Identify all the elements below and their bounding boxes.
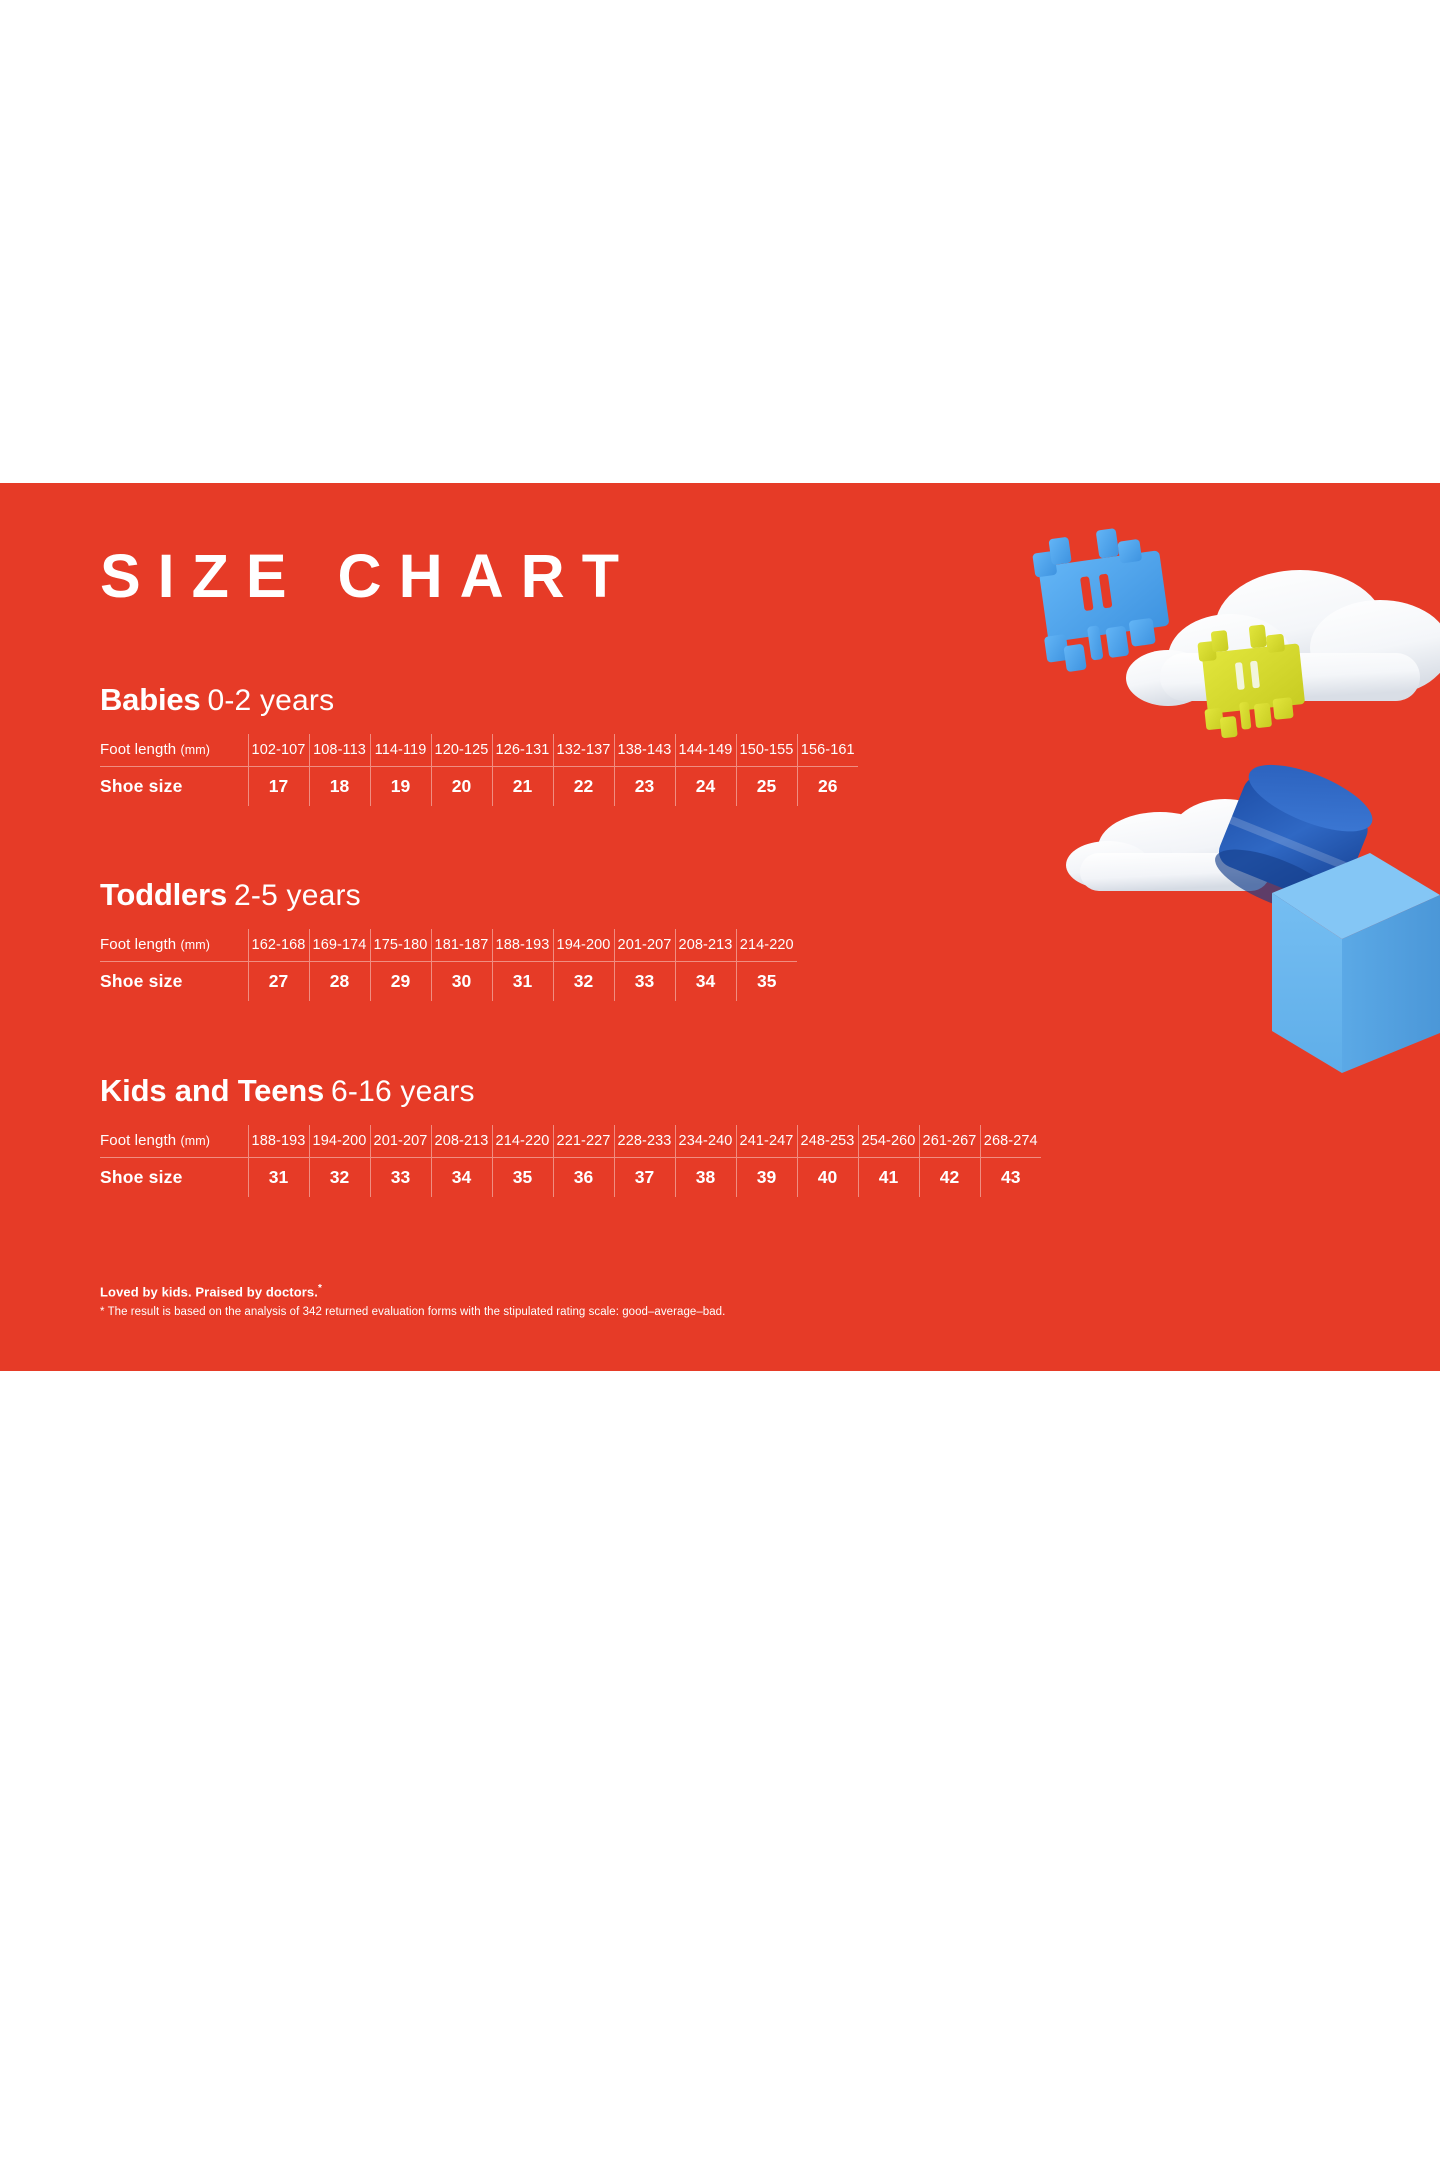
- table-cell-foot-length: 150-155: [736, 734, 797, 766]
- row-label-shoe-size: Shoe size: [100, 1157, 248, 1197]
- table-cell-foot-length: 102-107: [248, 734, 309, 766]
- table-cell-foot-length: 201-207: [614, 929, 675, 961]
- footer-claim-text: Loved by kids. Praised by doctors.: [100, 1284, 318, 1299]
- table-cell-foot-length: 254-260: [858, 1125, 919, 1157]
- table-cell-shoe-size: 21: [492, 766, 553, 806]
- section-age-label: 6-16 years: [331, 1075, 475, 1108]
- block-body: [1272, 853, 1440, 1073]
- table-cell-shoe-size: 25: [736, 766, 797, 806]
- row-label-foot-length-text: Foot length: [100, 1132, 176, 1149]
- table-row-foot-length: Foot length (mm) 188-193 194-200 201-207…: [100, 1125, 1041, 1157]
- table-cell-shoe-size: 35: [736, 961, 797, 1001]
- table-row-foot-length: Foot length (mm) 162-168 169-174 175-180…: [100, 929, 797, 961]
- table-cell-shoe-size: 37: [614, 1157, 675, 1197]
- table-cell-shoe-size: 31: [492, 961, 553, 1001]
- table-cell-foot-length: 194-200: [553, 929, 614, 961]
- section-heading-toddlers: Toddlers2-5 years: [100, 879, 797, 911]
- section-heading-kids-and-teens: Kids and Teens6-16 years: [100, 1075, 1041, 1107]
- rocket-cap: [1207, 751, 1380, 927]
- section-group-label: Toddlers: [100, 877, 227, 912]
- table-cell-shoe-size: 17: [248, 766, 309, 806]
- table-cell-shoe-size: 20: [431, 766, 492, 806]
- page-title: SIZE CHART: [100, 546, 636, 607]
- size-table-kids-and-teens: Foot length (mm) 188-193 194-200 201-207…: [100, 1125, 1041, 1197]
- row-label-foot-length: Foot length (mm): [100, 929, 248, 961]
- row-label-unit: (mm): [180, 938, 210, 952]
- cloud-shape: [1066, 799, 1281, 891]
- table-cell-foot-length: 221-227: [553, 1125, 614, 1157]
- table-cell-foot-length: 201-207: [370, 1125, 431, 1157]
- table-cell-shoe-size: 43: [980, 1157, 1041, 1197]
- row-label-shoe-size: Shoe size: [100, 961, 248, 1001]
- footer-claim-marker: *: [318, 1283, 322, 1294]
- table-cell-foot-length: 144-149: [675, 734, 736, 766]
- table-cell-foot-length: 208-213: [675, 929, 736, 961]
- table-cell-shoe-size: 41: [858, 1157, 919, 1197]
- table-row-shoe-size: Shoe size 17 18 19 20 21 22 23 24 25 26: [100, 766, 858, 806]
- table-cell-foot-length: 156-161: [797, 734, 858, 766]
- section-toddlers: Toddlers2-5 years Foot length (mm) 162-1…: [100, 879, 797, 1001]
- table-cell-foot-length: 261-267: [919, 1125, 980, 1157]
- table-cell-shoe-size: 33: [614, 961, 675, 1001]
- table-cell-foot-length: 194-200: [309, 1125, 370, 1157]
- table-cell-shoe-size: 39: [736, 1157, 797, 1197]
- table-cell-foot-length: 132-137: [553, 734, 614, 766]
- table-cell-foot-length: 214-220: [736, 929, 797, 961]
- page-root: SIZE CHART: [0, 0, 1440, 2160]
- blue-pixel-creature: [1030, 522, 1174, 674]
- row-label-unit: (mm): [180, 1134, 210, 1148]
- table-cell-shoe-size: 28: [309, 961, 370, 1001]
- section-babies: Babies0-2 years Foot length (mm) 102-107…: [100, 684, 858, 806]
- section-age-label: 0-2 years: [207, 684, 334, 717]
- table-cell-shoe-size: 26: [797, 766, 858, 806]
- table-cell-foot-length: 169-174: [309, 929, 370, 961]
- table-cell-foot-length: 234-240: [675, 1125, 736, 1157]
- table-cell-shoe-size: 35: [492, 1157, 553, 1197]
- footer: Loved by kids. Praised by doctors.* * Th…: [100, 1283, 725, 1318]
- table-cell-foot-length: 126-131: [492, 734, 553, 766]
- section-kids-and-teens: Kids and Teens6-16 years Foot length (mm…: [100, 1075, 1041, 1197]
- table-cell-shoe-size: 24: [675, 766, 736, 806]
- table-cell-shoe-size: 31: [248, 1157, 309, 1197]
- table-cell-shoe-size: 27: [248, 961, 309, 1001]
- table-cell-shoe-size: 22: [553, 766, 614, 806]
- table-cell-shoe-size: 29: [370, 961, 431, 1001]
- table-cell-shoe-size: 23: [614, 766, 675, 806]
- table-cell-shoe-size: 30: [431, 961, 492, 1001]
- table-cell-foot-length: 214-220: [492, 1125, 553, 1157]
- table-cell-foot-length: 188-193: [492, 929, 553, 961]
- table-cell-foot-length: 120-125: [431, 734, 492, 766]
- table-cell-foot-length: 248-253: [797, 1125, 858, 1157]
- table-cell-shoe-size: 33: [370, 1157, 431, 1197]
- table-cell-foot-length: 208-213: [431, 1125, 492, 1157]
- row-label-unit: (mm): [180, 743, 210, 757]
- table-row-shoe-size: Shoe size 31 32 33 34 35 36 37 38 39 40 …: [100, 1157, 1041, 1197]
- row-label-shoe-size: Shoe size: [100, 766, 248, 806]
- table-cell-shoe-size: 32: [553, 961, 614, 1001]
- table-cell-foot-length: 175-180: [370, 929, 431, 961]
- cloud-shape: [1126, 570, 1440, 706]
- table-cell-shoe-size: 36: [553, 1157, 614, 1197]
- table-cell-shoe-size: 19: [370, 766, 431, 806]
- table-cell-shoe-size: 34: [675, 961, 736, 1001]
- section-age-label: 2-5 years: [234, 879, 361, 912]
- table-cell-shoe-size: 38: [675, 1157, 736, 1197]
- table-cell-foot-length: 268-274: [980, 1125, 1041, 1157]
- row-label-foot-length: Foot length (mm): [100, 734, 248, 766]
- section-group-label: Babies: [100, 682, 200, 717]
- table-cell-shoe-size: 40: [797, 1157, 858, 1197]
- table-cell-foot-length: 162-168: [248, 929, 309, 961]
- table-cell-foot-length: 228-233: [614, 1125, 675, 1157]
- table-row-shoe-size: Shoe size 27 28 29 30 31 32 33 34 35: [100, 961, 797, 1001]
- section-group-label: Kids and Teens: [100, 1073, 324, 1108]
- table-cell-foot-length: 114-119: [370, 734, 431, 766]
- table-cell-shoe-size: 34: [431, 1157, 492, 1197]
- table-row-foot-length: Foot length (mm) 102-107 108-113 114-119…: [100, 734, 858, 766]
- row-label-foot-length-text: Foot length: [100, 936, 176, 953]
- size-table-toddlers: Foot length (mm) 162-168 169-174 175-180…: [100, 929, 797, 1001]
- footer-claim: Loved by kids. Praised by doctors.*: [100, 1283, 725, 1299]
- footer-note: * The result is based on the analysis of…: [100, 1306, 725, 1318]
- table-cell-foot-length: 108-113: [309, 734, 370, 766]
- row-label-foot-length-text: Foot length: [100, 741, 176, 758]
- table-cell-foot-length: 181-187: [431, 929, 492, 961]
- rocket-block-and-cloud-illustration: [1040, 743, 1440, 1073]
- row-label-foot-length: Foot length (mm): [100, 1125, 248, 1157]
- table-cell-foot-length: 241-247: [736, 1125, 797, 1157]
- pixel-creatures-and-cloud-illustration: [1000, 518, 1440, 788]
- table-cell-foot-length: 138-143: [614, 734, 675, 766]
- yellow-pixel-creature: [1196, 621, 1308, 740]
- table-cell-shoe-size: 42: [919, 1157, 980, 1197]
- size-chart-poster: SIZE CHART: [0, 483, 1440, 1371]
- table-cell-shoe-size: 18: [309, 766, 370, 806]
- table-cell-shoe-size: 32: [309, 1157, 370, 1197]
- table-cell-foot-length: 188-193: [248, 1125, 309, 1157]
- size-table-babies: Foot length (mm) 102-107 108-113 114-119…: [100, 734, 858, 806]
- section-heading-babies: Babies0-2 years: [100, 684, 858, 716]
